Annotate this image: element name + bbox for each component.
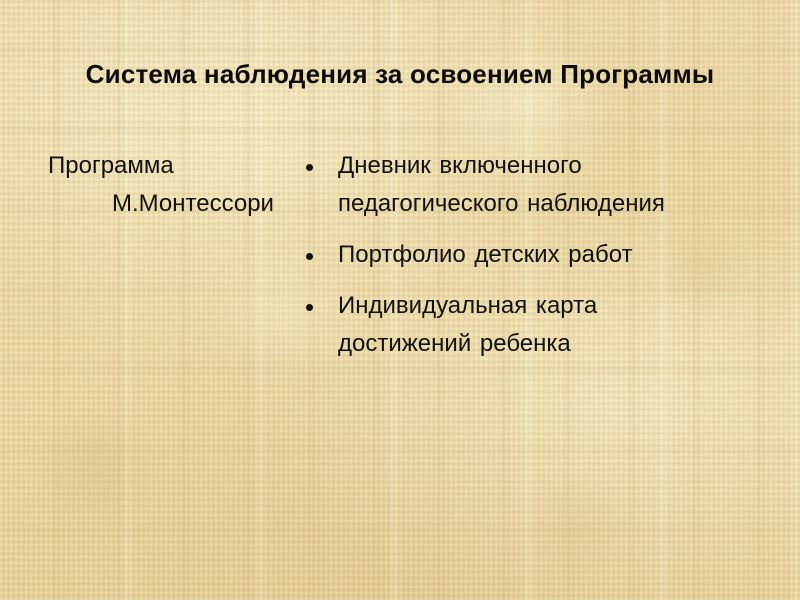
- bullet-dot-icon: [306, 236, 338, 260]
- list-item-label: Дневник включенного педагогического набл…: [338, 147, 736, 223]
- list-item-label: Индивидуальная карта достижений ребенка: [338, 287, 736, 363]
- bullet-dot-icon: [306, 147, 338, 171]
- list-item: Индивидуальная карта достижений ребенка: [306, 287, 736, 363]
- list-item: Портфолио детских работ: [306, 236, 736, 274]
- left-column-line-1: Программа: [48, 147, 330, 185]
- slide-title: Система наблюдения за освоением Программ…: [60, 57, 740, 91]
- left-column-line-2: М.Монтессори: [80, 185, 330, 223]
- left-column: Программа М.Монтессори: [48, 147, 330, 223]
- presentation-slide: Система наблюдения за освоением Программ…: [0, 0, 800, 600]
- bullet-dot-icon: [306, 287, 338, 311]
- list-item-label: Портфолио детских работ: [338, 236, 736, 274]
- list-item: Дневник включенного педагогического набл…: [306, 147, 736, 223]
- right-column-bullet-list: Дневник включенного педагогического набл…: [306, 147, 736, 363]
